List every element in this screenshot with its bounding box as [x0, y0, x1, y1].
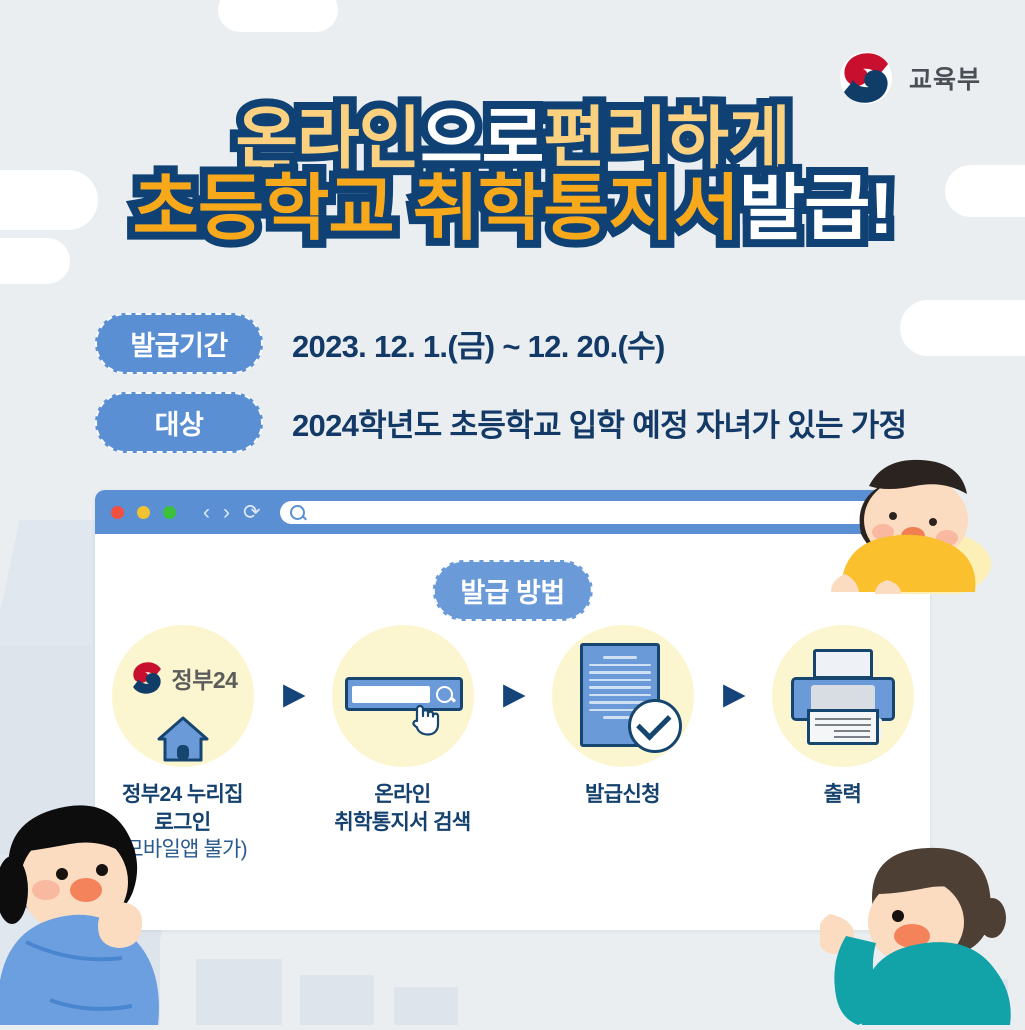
kid-top-right-illustration [821, 424, 1011, 594]
search-icon [290, 505, 305, 520]
triangle-right-icon [280, 683, 306, 709]
document-line [589, 694, 651, 697]
check-mark-icon [636, 705, 671, 740]
ministry-name: 교육부 [909, 60, 981, 96]
cloud-shape [900, 300, 1025, 356]
step-label: 발급신청 [539, 781, 707, 809]
document-line [589, 679, 651, 682]
headline-seg: 초등학교 취학통지서 [133, 172, 739, 246]
chevron-right-icon[interactable]: › [223, 502, 230, 523]
headline-seg: 온라인 [235, 104, 420, 174]
korea-taegeuk-emblem-icon [128, 659, 166, 697]
document-line [589, 664, 651, 667]
address-bar[interactable] [280, 501, 914, 524]
step-label-line-1: 발급신청 [539, 781, 707, 809]
document-line [589, 671, 651, 674]
headline-seg: 으로 [420, 104, 543, 174]
headline-seg: 발급! [739, 172, 892, 246]
traffic-light-minimize-icon[interactable] [137, 506, 150, 519]
traffic-light-maximize-icon[interactable] [163, 506, 176, 519]
step-label: 온라인 취학통지서 검색 [319, 781, 487, 836]
traffic-light-close-icon[interactable] [111, 506, 124, 519]
step-label-line-2: 취학통지서 검색 [319, 809, 487, 837]
gov24-brand-label: 정부24 [172, 661, 238, 695]
background-bar [394, 987, 458, 1025]
step-label-line-1: 온라인 [319, 781, 487, 809]
browser-window: ‹ › ⟳ 발급 방법 [95, 490, 930, 930]
cloud-shape [218, 0, 338, 32]
info-row-period: 발급기간 2023. 12. 1.(금) ~ 12. 20.(수) [95, 313, 906, 374]
info-list: 발급기간 2023. 12. 1.(금) ~ 12. 20.(수) 대상 202… [95, 313, 906, 471]
step-item-print: 출력 [759, 625, 927, 809]
home-icon [157, 715, 209, 763]
search-box-graphic [345, 677, 463, 711]
printer-paper-line [834, 730, 870, 732]
document-check-icon [552, 625, 694, 767]
printer-paper-line [815, 718, 871, 720]
background-bar [300, 975, 374, 1025]
page-title: 온라인으로 편리하게 초등학교 취학통지서 발급! [0, 104, 1025, 246]
printer-graphic [791, 649, 895, 745]
info-row-target: 대상 2024학년도 초등학교 입학 예정 자녀가 있는 가정 [95, 392, 906, 453]
kid-bottom-right-illustration [820, 840, 1015, 1025]
chevron-left-icon[interactable]: ‹ [203, 502, 210, 523]
info-pill-label: 대상 [95, 392, 263, 453]
step-label: 출력 [759, 781, 927, 809]
info-value: 2023. 12. 1.(금) ~ 12. 20.(수) [292, 321, 665, 366]
method-badge: 발급 방법 [432, 560, 592, 621]
steps-list: 정부24 정부24 누리집 로그인 (모바일앱 불가) [95, 625, 930, 864]
document-line [589, 686, 651, 689]
infographic-poster: 교육부 온라인으로 편리하게 초등학교 취학통지서 발급! 발급기간 2023.… [0, 0, 1025, 1025]
printer-paper-top [813, 649, 873, 679]
triangle-right-icon [720, 683, 746, 709]
step-label-line-1: 출력 [759, 781, 927, 809]
triangle-right-icon [500, 683, 526, 709]
info-pill-label: 발급기간 [95, 313, 263, 374]
info-value: 2024학년도 초등학교 입학 예정 자녀가 있는 가정 [292, 400, 906, 445]
headline-seg: 편리하게 [543, 104, 789, 174]
gov24-brand: 정부24 [112, 659, 254, 697]
printer-icon [772, 625, 914, 767]
background-bar [196, 959, 282, 1025]
reload-icon[interactable]: ⟳ [243, 502, 261, 523]
headline-line-2: 초등학교 취학통지서 발급! [0, 172, 1025, 246]
step-item-search: 온라인 취학통지서 검색 [319, 625, 487, 836]
gov24-logo-home-icon: 정부24 [112, 625, 254, 767]
printer-output-paper [807, 709, 879, 745]
printer-slot [811, 685, 875, 711]
browser-toolbar: ‹ › ⟳ [95, 490, 930, 534]
printer-paper-line [815, 724, 871, 726]
step-item-apply: 발급신청 [539, 625, 707, 809]
printer-paper-line [834, 736, 870, 738]
search-box-cursor-icon [332, 625, 474, 767]
korea-taegeuk-emblem-icon [836, 48, 896, 108]
document-line [603, 656, 637, 659]
ministry-logo: 교육부 [836, 48, 981, 108]
kid-bottom-left-illustration [0, 790, 207, 1025]
headline-line-1: 온라인으로 편리하게 [0, 104, 1025, 174]
check-badge-icon [628, 699, 682, 753]
pointing-hand-cursor-icon [410, 699, 440, 737]
